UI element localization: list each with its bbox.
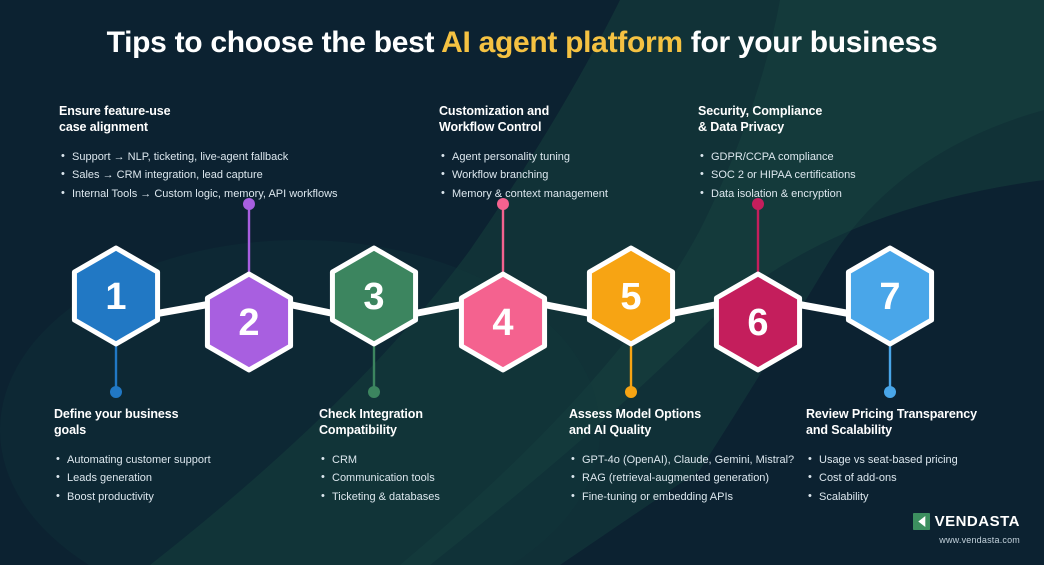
- step-bullet-list: GDPR/CCPA compliance SOC 2 or HIPAA cert…: [698, 149, 988, 202]
- step-bullet-list: CRM Communication tools Ticketing & data…: [319, 452, 564, 505]
- hexagon-step-chain: 1234567: [0, 195, 1044, 405]
- title-text-after: for your business: [683, 26, 938, 59]
- list-item: Boost productivity: [54, 489, 334, 505]
- chain-connector: [541, 304, 592, 314]
- step-block-2: Ensure feature-use case alignment Suppor…: [59, 103, 429, 204]
- step-heading: Security, Compliance & Data Privacy: [698, 103, 988, 135]
- step-bullet-list: Automating customer support Leads genera…: [54, 452, 334, 505]
- hexagon-step-6[interactable]: 6: [716, 274, 799, 370]
- hexagon-number: 5: [620, 276, 641, 318]
- list-item: Scalability: [806, 489, 1036, 505]
- step-bullet-list: GPT-4o (OpenAI), Claude, Gemini, Mistral…: [569, 452, 804, 505]
- page-title: Tips to choose the best AI agent platfor…: [0, 26, 1044, 60]
- chain-connector: [412, 304, 464, 314]
- hexagon-step-7[interactable]: 7: [848, 248, 931, 344]
- list-item: Cost of add-ons: [806, 470, 1036, 486]
- list-item: GPT-4o (OpenAI), Claude, Gemini, Mistral…: [569, 452, 804, 468]
- chain-connector: [287, 304, 335, 314]
- list-item: GDPR/CCPA compliance: [698, 149, 988, 165]
- step-block-5: Assess Model Options and AI Quality GPT-…: [569, 406, 804, 507]
- hexagon-number: 1: [105, 276, 126, 318]
- title-text-before: Tips to choose the best: [107, 26, 442, 59]
- step-block-6: Security, Compliance & Data Privacy GDPR…: [698, 103, 988, 204]
- vendasta-logo: VENDASTA www.vendasta.com: [913, 513, 1020, 545]
- list-item: Usage vs seat-based pricing: [806, 452, 1036, 468]
- list-item: Communication tools: [319, 470, 564, 486]
- list-item: Fine-tuning or embedding APIs: [569, 489, 804, 505]
- step-bullet-list: Support → NLP, ticketing, live-agent fal…: [59, 149, 429, 202]
- vendasta-wordmark: VENDASTA: [935, 514, 1020, 529]
- step-block-7: Review Pricing Transparency and Scalabil…: [806, 406, 1036, 507]
- chain-connector: [796, 304, 851, 314]
- list-item: Data isolation & encryption: [698, 186, 988, 202]
- hexagon-number: 4: [492, 302, 513, 344]
- step-block-3: Check Integration Compatibility CRM Comm…: [319, 406, 564, 507]
- hexagon-number: 3: [363, 276, 384, 318]
- step-block-4: Customization and Workflow Control Agent…: [439, 103, 689, 204]
- hexagon-step-3[interactable]: 3: [332, 248, 415, 344]
- step-heading: Review Pricing Transparency and Scalabil…: [806, 406, 1036, 438]
- step-heading: Assess Model Options and AI Quality: [569, 406, 804, 438]
- step-bullet-list: Agent personality tuning Workflow branch…: [439, 149, 689, 202]
- hexagon-number: 6: [747, 302, 768, 344]
- list-item: RAG (retrieval-augmented generation): [569, 470, 804, 486]
- list-item: CRM: [319, 452, 564, 468]
- hexagon-step-4[interactable]: 4: [461, 274, 544, 370]
- step-heading: Check Integration Compatibility: [319, 406, 564, 438]
- chain-connector: [154, 304, 210, 314]
- list-item: Memory & context management: [439, 186, 689, 202]
- chain-connector: [669, 304, 719, 314]
- step-heading: Customization and Workflow Control: [439, 103, 689, 135]
- list-item: Ticketing & databases: [319, 489, 564, 505]
- list-item: Automating customer support: [54, 452, 334, 468]
- step-heading: Define your business goals: [54, 406, 334, 438]
- list-item: Support → NLP, ticketing, live-agent fal…: [59, 149, 429, 165]
- step-heading: Ensure feature-use case alignment: [59, 103, 429, 135]
- hexagon-step-2[interactable]: 2: [207, 274, 290, 370]
- step-stem-dot: [368, 386, 380, 398]
- list-item: Leads generation: [54, 470, 334, 486]
- list-item: Agent personality tuning: [439, 149, 689, 165]
- vendasta-mark-icon: [913, 513, 930, 530]
- step-stem-dot: [110, 386, 122, 398]
- step-stem-dot: [625, 386, 637, 398]
- hexagon-number: 2: [238, 302, 259, 344]
- step-block-1: Define your business goals Automating cu…: [54, 406, 334, 507]
- list-item: Workflow branching: [439, 167, 689, 183]
- list-item: SOC 2 or HIPAA certifications: [698, 167, 988, 183]
- list-item: Internal Tools → Custom logic, memory, A…: [59, 186, 429, 202]
- hexagon-step-5[interactable]: 5: [589, 248, 672, 344]
- list-item: Sales → CRM integration, lead capture: [59, 167, 429, 183]
- vendasta-url: www.vendasta.com: [913, 535, 1020, 545]
- title-highlight: AI agent platform: [441, 26, 683, 59]
- hexagon-number: 7: [879, 276, 900, 318]
- step-stem-dot: [884, 386, 896, 398]
- step-bullet-list: Usage vs seat-based pricing Cost of add-…: [806, 452, 1036, 505]
- hexagon-step-1[interactable]: 1: [74, 248, 157, 344]
